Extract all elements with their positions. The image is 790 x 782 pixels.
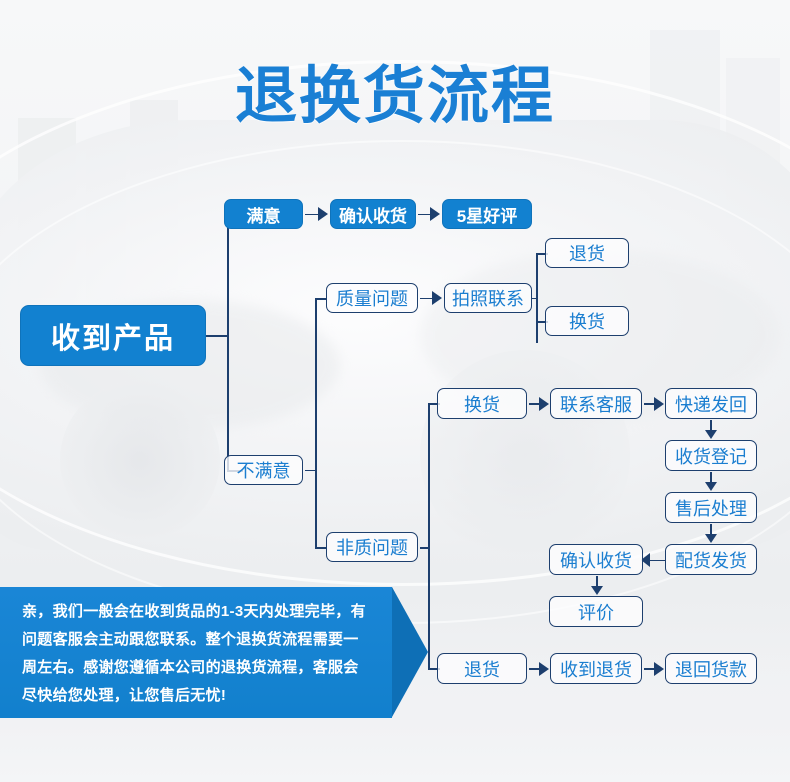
node-return-goods[interactable]: 退货 (437, 653, 527, 684)
node-confirm-receipt[interactable]: 确认收货 (549, 544, 643, 575)
node-return-goods-top[interactable]: 退货 (545, 238, 629, 268)
arrow-exchange-to-service (539, 397, 549, 411)
arrow-received-to-refund (654, 662, 664, 676)
background-building-1 (18, 118, 76, 298)
arrow-register-to-aftersales (705, 482, 717, 491)
returns-flowchart-page: 退换货流程 满意 确认收货 5星好评 质量问题 拍照联系 退货 换货 不满意 非… (0, 0, 790, 782)
connector-dissatisfied-spine (315, 298, 317, 548)
page-title: 退换货流程 (0, 66, 790, 128)
node-dispatch-shipping[interactable]: 配货发货 (665, 544, 757, 575)
connector-nonquality-spine (428, 403, 430, 669)
node-refund-payment[interactable]: 退回货款 (665, 653, 757, 684)
connector-start-to-spine (206, 335, 228, 337)
node-dissatisfied[interactable]: 不满意 (224, 455, 303, 485)
node-contact-service[interactable]: 联系客服 (550, 388, 642, 419)
background-building-2 (86, 150, 126, 300)
node-five-star-review[interactable]: 5星好评 (442, 199, 532, 229)
arrow-return-to-received (539, 662, 549, 676)
node-rating[interactable]: 评价 (549, 596, 643, 627)
node-confirm-receipt-top[interactable]: 确认收货 (330, 199, 416, 229)
arrow-ship-to-register (705, 430, 717, 439)
arrow-service-to-ship (654, 397, 664, 411)
connector-spine-to-quality (315, 298, 327, 300)
arrow-satisfied-to-confirm (318, 207, 328, 221)
node-quality-issue[interactable]: 质量问题 (326, 283, 418, 313)
background-building-3 (130, 100, 178, 300)
background-wheel-left (60, 380, 220, 540)
node-received-return[interactable]: 收到退货 (550, 653, 642, 684)
arrow-aftersales-to-dispatch (705, 534, 717, 543)
node-exchange-goods[interactable]: 换货 (437, 388, 527, 419)
note-banner-text: 亲，我们一般会在收到货品的1-3天内处理完毕，有问题客服会主动跟您联系。整个退换… (22, 598, 372, 710)
node-non-quality-issue[interactable]: 非质问题 (326, 532, 418, 562)
connector-branch-spine (227, 214, 229, 471)
node-photo-contact[interactable]: 拍照联系 (444, 283, 532, 313)
node-receipt-registration[interactable]: 收货登记 (665, 440, 757, 471)
connector-photo-split-spine (536, 253, 538, 343)
node-receive-product[interactable]: 收到产品 (20, 305, 206, 366)
node-express-send-back[interactable]: 快递发回 (665, 388, 757, 419)
arrow-quality-to-photo (432, 291, 442, 305)
node-satisfied[interactable]: 满意 (224, 199, 303, 229)
node-exchange-goods-top[interactable]: 换货 (545, 306, 629, 336)
background-wheel-right (420, 350, 630, 560)
node-after-sales-processing[interactable]: 售后处理 (665, 492, 757, 523)
note-banner-arrow (392, 587, 428, 717)
arrow-confirm-to-review (430, 207, 440, 221)
arrow-confirm-to-rating (591, 586, 603, 595)
